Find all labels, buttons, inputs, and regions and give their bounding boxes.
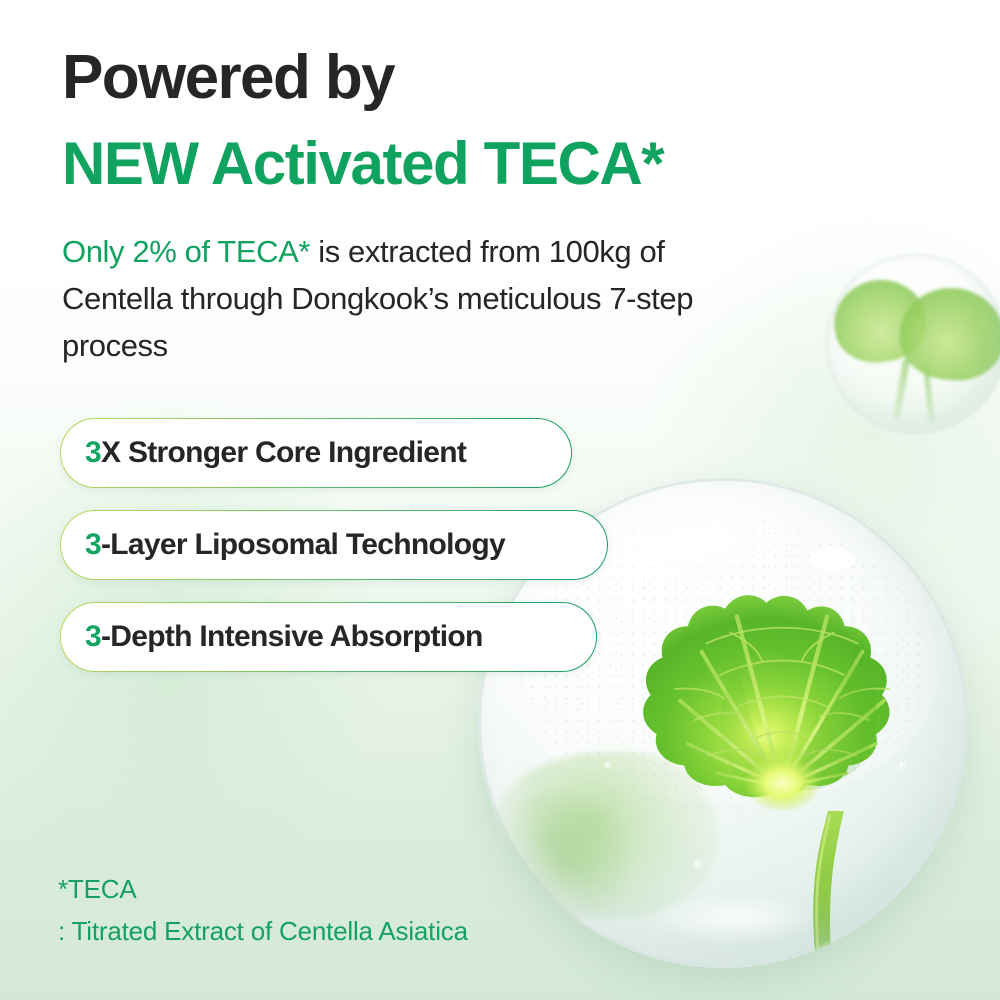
- sphere-highlight-small: [811, 547, 855, 572]
- feature-pill-intensive-absorption[interactable]: 3-Depth Intensive Absorption: [60, 602, 597, 672]
- small-water-sphere: [826, 254, 1000, 434]
- footnote-line-1: *TECA: [58, 868, 468, 910]
- feature-pill-inner: 3X Stronger Core Ingredient: [61, 419, 571, 487]
- headline-primary: Powered by: [62, 47, 394, 109]
- body-copy: Only 2% of TECA* is extracted from 100kg…: [62, 228, 702, 369]
- feature-pill-text: 3-Depth Intensive Absorption: [85, 620, 483, 654]
- centella-asiatica-leaf: [635, 591, 929, 875]
- feature-pill-text: 3-Layer Liposomal Technology: [85, 528, 505, 562]
- feature-pill-label: X Stronger Core Ingredient: [101, 436, 466, 469]
- product-marketing-banner: Powered by NEW Activated TECA* Only 2% o…: [0, 0, 1000, 1000]
- bubble-icon: [772, 576, 777, 581]
- feature-pill-inner: 3-Layer Liposomal Technology: [61, 511, 607, 579]
- feature-pill-text: 3X Stronger Core Ingredient: [85, 436, 466, 470]
- centella-leaf-icon: [829, 274, 932, 368]
- feature-pill-number: 3: [85, 528, 101, 561]
- feature-pill-label: -Layer Liposomal Technology: [101, 528, 505, 561]
- mini-leaf-stem: [893, 358, 911, 420]
- feature-pill-stronger-core-ingredient[interactable]: 3X Stronger Core Ingredient: [60, 418, 572, 488]
- footnote: *TECA : Titrated Extract of Centella Asi…: [58, 868, 468, 952]
- footnote-line-2: : Titrated Extract of Centella Asiatica: [58, 910, 468, 952]
- feature-pill-liposomal-technology[interactable]: 3-Layer Liposomal Technology: [60, 510, 608, 580]
- centella-leaf-icon: [895, 283, 1000, 385]
- body-copy-highlight: Only 2% of TECA*: [62, 234, 310, 269]
- sphere-green-sediment: [478, 792, 645, 919]
- feature-pill-inner: 3-Depth Intensive Absorption: [61, 603, 596, 671]
- mini-leaf-stem: [923, 366, 935, 424]
- headline-secondary: NEW Activated TECA*: [62, 134, 663, 194]
- feature-pill-number: 3: [85, 620, 101, 653]
- feature-pill-number: 3: [85, 436, 101, 469]
- feature-pill-label: -Depth Intensive Absorption: [101, 620, 483, 653]
